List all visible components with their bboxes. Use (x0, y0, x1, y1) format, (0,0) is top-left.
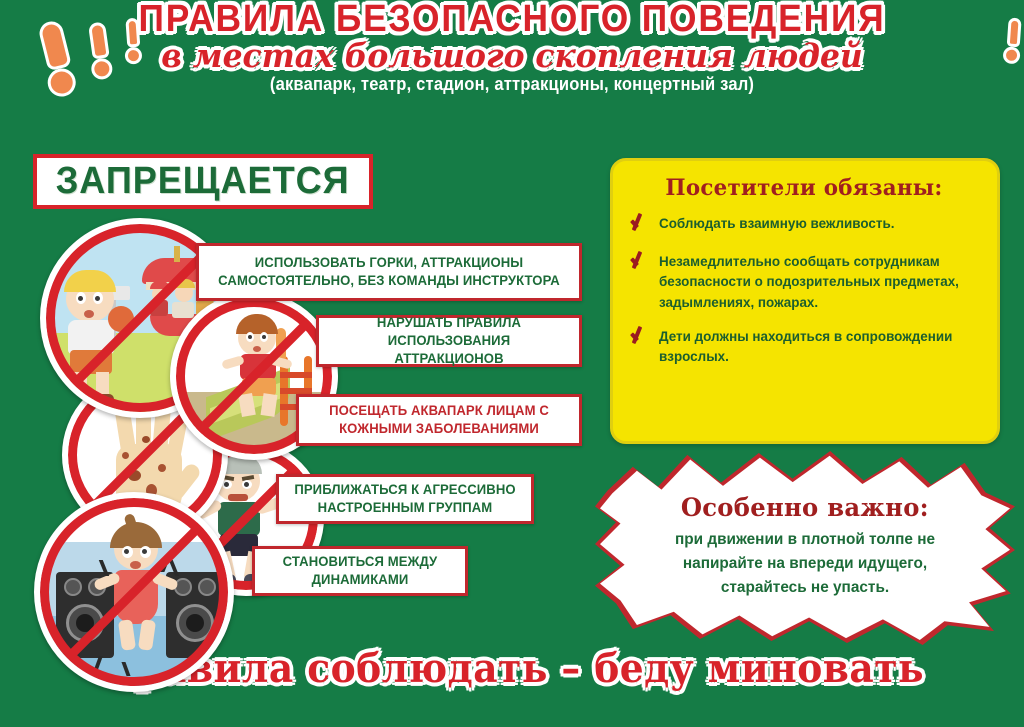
duty-text: Незамедлительно сообщать сотрудникам без… (659, 251, 968, 312)
check-mark-icon (627, 211, 653, 237)
forbidden-label-slide: НАРУШАТЬ ПРАВИЛА ИСПОЛЬЗОВАНИЯ АТТРАКЦИО… (316, 315, 582, 367)
visitor-duties-panel: Посетители обязаны: Соблюдать взаимную в… (610, 158, 1000, 444)
poster-title-block: ПРАВИЛА БЕЗОПАСНОГО ПОВЕДЕНИЯ в местах б… (0, 0, 1024, 95)
forbidden-label-text: НАРУШАТЬ ПРАВИЛА ИСПОЛЬЗОВАНИЯ АТТРАКЦИО… (333, 314, 566, 369)
safety-poster: ПРАВИЛА БЕЗОПАСНОГО ПОВЕДЕНИЯ в местах б… (0, 0, 1024, 727)
forbidden-label-aggressive-groups: ПРИБЛИЖАТЬСЯ К АГРЕССИВНО НАСТРОЕННЫМ ГР… (276, 474, 534, 524)
poster-header: ПРАВИЛА БЕЗОПАСНОГО ПОВЕДЕНИЯ в местах б… (0, 0, 1024, 148)
forbidden-label-text: ПРИБЛИЖАТЬСЯ К АГРЕССИВНО НАСТРОЕННЫМ ГР… (292, 481, 517, 517)
page-title: ПРАВИЛА БЕЗОПАСНОГО ПОВЕДЕНИЯ (36, 0, 988, 38)
important-title: Особенно важно: (681, 493, 929, 522)
starburst-content: Особенно важно: при движении в плотной т… (600, 452, 1010, 640)
no-loudspeakers-icon (34, 492, 234, 692)
forbidden-banner: ЗАПРЕЩАЕТСЯ (33, 154, 373, 209)
forbidden-label-text: ИСПОЛЬЗОВАТЬ ГОРКИ, АТТРАКЦИОНЫ САМОСТОЯ… (214, 254, 563, 290)
forbidden-label-skin-disease: ПОСЕЩАТЬ АКВАПАРК ЛИЦАМ С КОЖНЫМИ ЗАБОЛЕ… (296, 394, 582, 446)
venue-list: (аквапарк, театр, стадион, аттракционы, … (41, 74, 983, 95)
duty-text: Соблюдать взаимную вежливость. (659, 213, 894, 233)
duty-item: Соблюдать взаимную вежливость. (627, 213, 981, 237)
forbidden-label-text: ПОСЕЩАТЬ АКВАПАРК ЛИЦАМ С КОЖНЫМИ ЗАБОЛЕ… (313, 402, 565, 438)
page-subtitle: в местах большого скопления людей (26, 38, 999, 74)
forbidden-banner-label: ЗАПРЕЩАЕТСЯ (56, 160, 350, 203)
duty-item: Незамедлительно сообщать сотрудникам без… (627, 251, 981, 312)
duty-text: Дети должны находиться в сопровождении в… (659, 326, 968, 367)
especially-important-callout: Особенно важно: при движении в плотной т… (600, 452, 1010, 640)
check-mark-icon (627, 249, 653, 275)
important-body: при движении в плотной толпе не напирайт… (641, 528, 969, 600)
forbidden-label-carousel: ИСПОЛЬЗОВАТЬ ГОРКИ, АТТРАКЦИОНЫ САМОСТОЯ… (196, 243, 582, 301)
loudspeakers-illustration (40, 498, 228, 686)
duties-title: Посетители обязаны: (632, 175, 975, 201)
check-mark-icon (627, 324, 653, 350)
forbidden-label-speakers: СТАНОВИТЬСЯ МЕЖДУ ДИНАМИКАМИ (252, 546, 468, 596)
duty-item: Дети должны находиться в сопровождении в… (627, 326, 981, 367)
forbidden-label-text: СТАНОВИТЬСЯ МЕЖДУ ДИНАМИКАМИ (268, 553, 452, 589)
